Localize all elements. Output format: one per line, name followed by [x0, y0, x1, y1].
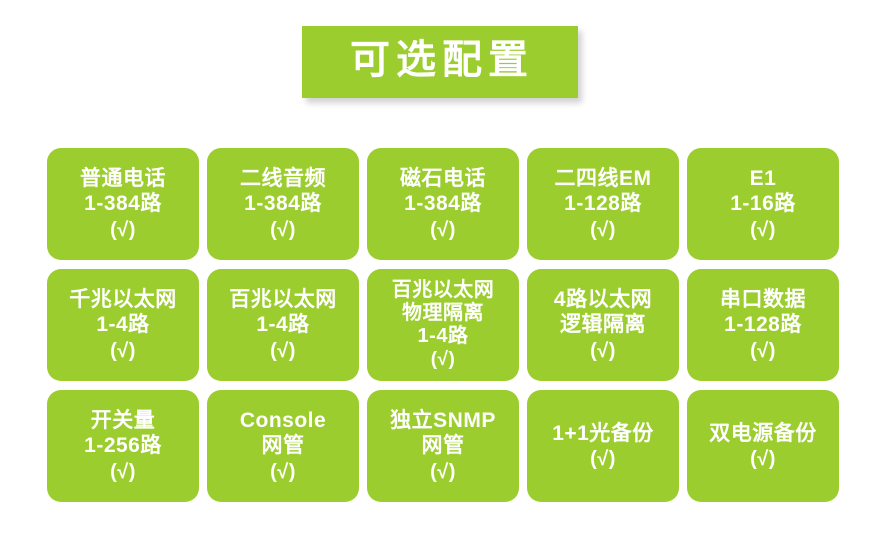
option-card-line: 1-4路 — [418, 325, 469, 348]
option-card-line: 1+1光备份 — [552, 421, 654, 447]
page-root: 可选配置 普通电话1-384路(√)二线音频1-384路(√)磁石电话1-384… — [0, 0, 880, 560]
option-card-line: 逻辑隔离 — [560, 312, 646, 338]
option-card: E11-16路(√) — [687, 148, 839, 260]
option-card-line: 1-16路 — [730, 191, 796, 217]
check-mark-icon: (√) — [110, 460, 136, 484]
option-card-line: 双电源备份 — [709, 421, 817, 447]
option-card: 千兆以太网1-4路(√) — [47, 269, 199, 381]
option-card-line: E1 — [750, 166, 777, 192]
option-card-line: 网管 — [262, 433, 305, 459]
option-card: 磁石电话1-384路(√) — [367, 148, 519, 260]
check-mark-icon: (√) — [590, 447, 616, 471]
option-card-line: 串口数据 — [720, 287, 806, 313]
check-mark-icon: (√) — [750, 447, 776, 471]
option-card-line: 1-128路 — [564, 191, 642, 217]
check-mark-icon: (√) — [750, 218, 776, 242]
option-card-line: 1-4路 — [96, 312, 149, 338]
page-title: 可选配置 — [302, 26, 578, 98]
option-card: 开关量1-256路(√) — [47, 390, 199, 502]
option-card-line: 网管 — [422, 433, 465, 459]
option-card: Console网管(√) — [207, 390, 359, 502]
option-card-line: 百兆以太网 — [229, 287, 337, 313]
option-card-line: 百兆以太网 — [392, 279, 495, 302]
option-card: 百兆以太网物理隔离1-4路(√) — [367, 269, 519, 381]
check-mark-icon: (√) — [590, 339, 616, 363]
option-card-line: 磁石电话 — [400, 166, 486, 192]
option-card-line: 开关量 — [91, 408, 156, 434]
option-card-line: 1-384路 — [244, 191, 322, 217]
option-card-line: 二线音频 — [240, 166, 326, 192]
check-mark-icon: (√) — [590, 218, 616, 242]
check-mark-icon: (√) — [430, 460, 456, 484]
option-card: 4路以太网逻辑隔离(√) — [527, 269, 679, 381]
option-card: 二线音频1-384路(√) — [207, 148, 359, 260]
option-card: 独立SNMP网管(√) — [367, 390, 519, 502]
option-card: 双电源备份(√) — [687, 390, 839, 502]
option-card: 二四线EM1-128路(√) — [527, 148, 679, 260]
options-grid: 普通电话1-384路(√)二线音频1-384路(√)磁石电话1-384路(√)二… — [47, 148, 839, 502]
option-card-line: 1-256路 — [84, 433, 162, 459]
check-mark-icon: (√) — [270, 460, 296, 484]
option-card-line: 1-128路 — [724, 312, 802, 338]
option-card: 串口数据1-128路(√) — [687, 269, 839, 381]
check-mark-icon: (√) — [110, 339, 136, 363]
option-card-line: 1-4路 — [256, 312, 309, 338]
option-card-line: Console — [240, 408, 326, 434]
title-banner-wrapper: 可选配置 — [0, 26, 880, 98]
check-mark-icon: (√) — [430, 218, 456, 242]
check-mark-icon: (√) — [750, 339, 776, 363]
option-card: 普通电话1-384路(√) — [47, 148, 199, 260]
check-mark-icon: (√) — [270, 339, 296, 363]
check-mark-icon: (√) — [110, 218, 136, 242]
check-mark-icon: (√) — [431, 349, 456, 371]
option-card-line: 独立SNMP — [390, 408, 496, 434]
option-card: 百兆以太网1-4路(√) — [207, 269, 359, 381]
option-card-line: 1-384路 — [84, 191, 162, 217]
option-card-line: 二四线EM — [555, 166, 652, 192]
option-card-line: 普通电话 — [80, 166, 166, 192]
option-card-line: 千兆以太网 — [69, 287, 177, 313]
option-card-line: 4路以太网 — [554, 287, 652, 313]
check-mark-icon: (√) — [270, 218, 296, 242]
option-card-line: 物理隔离 — [402, 302, 484, 325]
option-card: 1+1光备份(√) — [527, 390, 679, 502]
option-card-line: 1-384路 — [404, 191, 482, 217]
